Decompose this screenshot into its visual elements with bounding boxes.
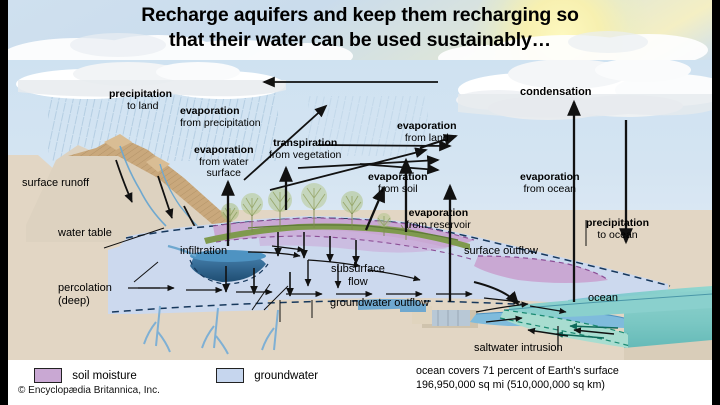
label-precip-ocean-plain: to ocean <box>586 230 649 242</box>
label-water-table: water table <box>58 228 112 240</box>
label-evaporation-from-land: evaporation from land <box>397 121 457 144</box>
label-transpiration-bold: transpiration <box>269 138 341 150</box>
label-evap-water-plain2: surface <box>194 168 254 180</box>
copyright-notice: © Encyclopædia Britannica, Inc. <box>18 385 160 396</box>
label-percolation-deep: percolation (deep) <box>58 282 112 308</box>
legend-groundwater: groundwater <box>216 368 318 383</box>
label-evap-land-plain: from land <box>397 133 457 145</box>
label-infiltration: infiltration <box>180 246 227 258</box>
label-evaporation-from-precipitation: evaporation from precipitation <box>180 106 261 129</box>
label-precipitation-to-land-bold: precipitation <box>109 89 172 101</box>
label-evap-ocean-bold: evaporation <box>520 172 580 184</box>
label-evaporation-from-soil: evaporation from soil <box>368 172 428 195</box>
label-percolation: percolation <box>58 282 112 295</box>
water-cycle-diagram: precipitation to land evaporation from p… <box>8 60 712 360</box>
label-deep: (deep) <box>58 295 112 308</box>
label-surface-runoff: surface runoff <box>22 178 89 190</box>
label-evaporation-from-reservoir: evaporation from reservoir <box>406 208 471 231</box>
label-flow: flow <box>331 276 385 289</box>
title-line-2: that their water can be used sustainably… <box>8 28 712 53</box>
frame-left-border <box>0 0 8 405</box>
label-evap-reservoir-bold: evaporation <box>406 208 471 220</box>
label-evaporation-from-water-surface: evaporation from water surface <box>194 145 254 180</box>
screenshot-root: Recharge aquifers and keep them rechargi… <box>0 0 720 405</box>
ocean-fact-line-2: 196,950,000 sq mi (510,000,000 sq km) <box>416 379 619 393</box>
footer: soil moisture groundwater © Encyclopædia… <box>8 360 712 405</box>
label-groundwater-outflow: groundwater outflow <box>330 298 429 310</box>
ocean-fact-line-1: ocean covers 71 percent of Earth's surfa… <box>416 365 619 379</box>
label-condensation: condensation <box>520 87 592 99</box>
label-transpiration-from-vegetation: transpiration from vegetation <box>269 138 341 161</box>
label-ocean: ocean <box>588 293 618 305</box>
label-subsurface-flow: subsurface flow <box>331 263 385 288</box>
label-evaporation-from-ocean: evaporation from ocean <box>520 172 580 195</box>
label-evap-water-bold: evaporation <box>194 145 254 157</box>
label-transpiration-plain: from vegetation <box>269 150 341 162</box>
label-evap-precip-bold: evaporation <box>180 106 261 118</box>
label-precip-ocean-bold: precipitation <box>586 218 649 230</box>
label-surface-outflow: surface outflow <box>464 246 538 258</box>
frame-right-border <box>712 0 720 405</box>
label-evap-land-bold: evaporation <box>397 121 457 133</box>
soil-moisture-swatch-icon <box>34 368 62 383</box>
label-evap-soil-plain: from soil <box>368 184 428 196</box>
title-band: Recharge aquifers and keep them rechargi… <box>8 0 712 60</box>
label-precipitation-to-ocean: precipitation to ocean <box>586 218 649 241</box>
label-saltwater-intrusion: saltwater intrusion <box>474 343 563 355</box>
label-evap-precip-plain: from precipitation <box>180 118 261 130</box>
label-evap-soil-bold: evaporation <box>368 172 428 184</box>
title-line-1: Recharge aquifers and keep them rechargi… <box>8 3 712 28</box>
label-evap-ocean-plain: from ocean <box>520 184 580 196</box>
page-title: Recharge aquifers and keep them rechargi… <box>8 3 712 53</box>
label-precipitation-to-land-plain: to land <box>109 101 172 113</box>
label-subsurface: subsurface <box>331 263 385 276</box>
legend-soil-moisture: soil moisture <box>34 368 137 383</box>
ocean-fact: ocean covers 71 percent of Earth's surfa… <box>416 365 619 392</box>
groundwater-swatch-icon <box>216 368 244 383</box>
label-evap-reservoir-plain: from reservoir <box>406 220 471 232</box>
label-precipitation-to-land: precipitation to land <box>109 89 172 112</box>
legend-soil-moisture-label: soil moisture <box>72 370 137 382</box>
legend-groundwater-label: groundwater <box>254 370 318 382</box>
